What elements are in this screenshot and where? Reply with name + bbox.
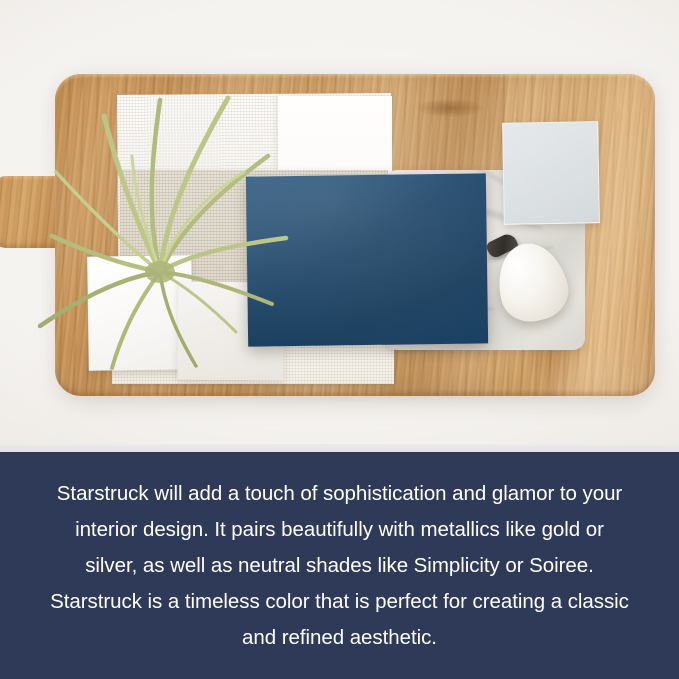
pale-grey-blue-tile	[502, 121, 600, 225]
flatlay-photo	[0, 0, 679, 452]
caption-text: Starstruck will add a touch of sophistic…	[48, 476, 632, 656]
navy-paint-swatch	[246, 173, 488, 346]
product-color-card: Starstruck will add a touch of sophistic…	[0, 0, 679, 679]
caption-panel: Starstruck will add a touch of sophistic…	[0, 452, 679, 679]
swatch-sheen	[246, 173, 488, 346]
board-cast-shadow	[60, 388, 648, 410]
photo-panel-separator	[0, 444, 679, 452]
